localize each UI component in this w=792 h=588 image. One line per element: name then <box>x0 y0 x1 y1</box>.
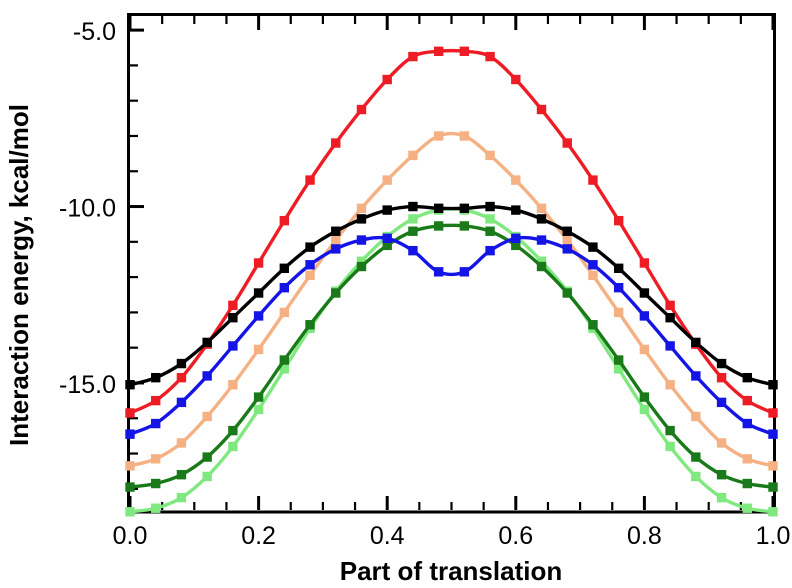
series-tan-curve <box>126 132 777 470</box>
series-red-curve <box>126 47 777 417</box>
series-marker <box>177 398 185 406</box>
series-marker <box>332 236 340 244</box>
series-marker <box>332 227 340 235</box>
series-marker <box>460 222 468 230</box>
series-marker <box>383 176 391 184</box>
series-marker <box>229 442 237 450</box>
series-marker <box>332 245 340 253</box>
series-marker <box>229 301 237 309</box>
series-marker <box>383 206 391 214</box>
series-marker <box>692 472 700 480</box>
series-marker <box>640 312 648 320</box>
series-marker <box>743 504 751 512</box>
series-marker <box>589 261 597 269</box>
series-marker <box>486 246 494 254</box>
series-marker <box>409 246 417 254</box>
series-marker <box>537 262 545 270</box>
series-marker <box>512 75 520 83</box>
series-marker <box>512 234 520 242</box>
series-marker <box>614 284 622 292</box>
series-light-green-curve <box>126 206 777 516</box>
series-marker <box>306 176 314 184</box>
series-marker <box>614 264 622 272</box>
series-marker <box>152 504 160 512</box>
series-marker <box>126 430 134 438</box>
series-marker <box>537 105 545 113</box>
series-marker <box>614 356 622 364</box>
series-marker <box>280 264 288 272</box>
series-marker <box>229 342 237 350</box>
series-marker <box>460 47 468 55</box>
series-marker <box>229 426 237 434</box>
series-marker <box>254 405 262 413</box>
series-marker <box>769 430 777 438</box>
series-marker <box>537 236 545 244</box>
series-black-curve <box>126 202 777 389</box>
series-marker <box>152 396 160 404</box>
y-axis-tick-labels: -5.0-10.0-15.0 <box>59 18 116 399</box>
series-line <box>130 225 773 487</box>
series-marker <box>666 342 674 350</box>
series-line <box>130 51 773 413</box>
series-marker <box>332 289 340 297</box>
series-marker <box>254 312 262 320</box>
series-marker <box>666 313 674 321</box>
series-marker <box>589 243 597 251</box>
series-line <box>130 207 773 385</box>
series-marker <box>332 139 340 147</box>
y-axis-minor-ticks <box>130 65 138 488</box>
data-series-group <box>126 47 777 516</box>
series-marker <box>203 338 211 346</box>
series-marker <box>357 105 365 113</box>
series-marker <box>563 139 571 147</box>
x-tick-label: 0.6 <box>498 522 533 550</box>
series-marker <box>717 493 725 501</box>
series-marker <box>177 439 185 447</box>
series-marker <box>203 412 211 420</box>
x-tick-label: 0.4 <box>370 522 405 550</box>
series-line <box>130 134 773 466</box>
series-marker <box>769 483 777 491</box>
series-marker <box>640 345 648 353</box>
series-marker <box>717 359 725 367</box>
y-tick-label: -10.0 <box>59 195 116 223</box>
series-marker <box>434 132 442 140</box>
series-marker <box>254 345 262 353</box>
series-marker <box>357 215 365 223</box>
series-marker <box>769 409 777 417</box>
series-marker <box>563 236 571 244</box>
series-marker <box>280 284 288 292</box>
series-marker <box>434 222 442 230</box>
series-marker <box>743 396 751 404</box>
series-marker <box>769 381 777 389</box>
series-blue-curve <box>126 234 777 438</box>
series-marker <box>177 471 185 479</box>
series-marker <box>434 268 442 276</box>
series-marker <box>460 204 468 212</box>
series-marker <box>126 483 134 491</box>
series-marker <box>306 261 314 269</box>
series-line <box>130 209 773 512</box>
series-marker <box>152 419 160 427</box>
series-marker <box>589 176 597 184</box>
series-marker <box>614 216 622 224</box>
series-marker <box>769 508 777 516</box>
series-marker <box>409 227 417 235</box>
series-marker <box>152 455 160 463</box>
series-marker <box>666 442 674 450</box>
series-marker <box>177 359 185 367</box>
series-marker <box>306 321 314 329</box>
series-marker <box>254 393 262 401</box>
chart-plot-area: 0.00.20.40.60.81.0 -5.0-10.0-15.0 Part o… <box>0 0 792 588</box>
x-tick-label: 1.0 <box>756 522 791 550</box>
series-marker <box>383 234 391 242</box>
series-marker <box>486 151 494 159</box>
series-marker <box>537 204 545 212</box>
series-marker <box>383 75 391 83</box>
y-axis-title: Interaction energy, kcal/mol <box>4 104 34 446</box>
series-marker <box>203 472 211 480</box>
series-marker <box>409 202 417 210</box>
series-marker <box>512 206 520 214</box>
series-marker <box>229 381 237 389</box>
series-marker <box>177 373 185 381</box>
series-marker <box>717 439 725 447</box>
series-marker <box>203 372 211 380</box>
series-marker <box>537 215 545 223</box>
series-marker <box>717 373 725 381</box>
series-marker <box>203 453 211 461</box>
series-marker <box>409 215 417 223</box>
series-marker <box>486 215 494 223</box>
y-axis-major-ticks <box>130 30 144 383</box>
x-tick-label: 0.8 <box>627 522 662 550</box>
x-tick-label: 0.0 <box>113 522 148 550</box>
x-axis-title: Part of translation <box>340 556 562 586</box>
series-marker <box>409 151 417 159</box>
series-marker <box>177 493 185 501</box>
x-tick-label: 0.2 <box>241 522 276 550</box>
series-marker <box>254 289 262 297</box>
series-marker <box>666 426 674 434</box>
series-marker <box>614 308 622 316</box>
series-marker <box>666 381 674 389</box>
series-marker <box>692 338 700 346</box>
series-marker <box>486 202 494 210</box>
series-marker <box>717 398 725 406</box>
series-marker <box>563 227 571 235</box>
series-marker <box>460 268 468 276</box>
series-marker <box>357 204 365 212</box>
series-marker <box>126 462 134 470</box>
series-marker <box>743 455 751 463</box>
series-marker <box>306 243 314 251</box>
series-marker <box>589 321 597 329</box>
x-axis-minor-ticks <box>162 16 741 510</box>
series-marker <box>769 462 777 470</box>
series-marker <box>640 405 648 413</box>
series-marker <box>460 132 468 140</box>
y-tick-label: -15.0 <box>59 371 116 399</box>
series-marker <box>126 409 134 417</box>
series-marker <box>717 471 725 479</box>
series-marker <box>692 372 700 380</box>
chart-figure: 0.00.20.40.60.81.0 -5.0-10.0-15.0 Part o… <box>0 0 792 588</box>
y-tick-label: -5.0 <box>73 18 116 46</box>
series-marker <box>152 373 160 381</box>
series-marker <box>640 393 648 401</box>
series-marker <box>743 479 751 487</box>
series-marker <box>743 373 751 381</box>
series-marker <box>280 356 288 364</box>
series-marker <box>409 52 417 60</box>
series-marker <box>640 289 648 297</box>
series-marker <box>280 308 288 316</box>
series-marker <box>692 453 700 461</box>
series-marker <box>743 419 751 427</box>
series-marker <box>563 289 571 297</box>
series-marker <box>692 412 700 420</box>
series-marker <box>357 236 365 244</box>
series-marker <box>666 301 674 309</box>
series-marker <box>254 259 262 267</box>
series-line <box>130 238 773 435</box>
series-marker <box>306 271 314 279</box>
series-marker <box>126 508 134 516</box>
series-marker <box>434 47 442 55</box>
x-axis-tick-labels: 0.00.20.40.60.81.0 <box>113 522 791 550</box>
series-marker <box>640 259 648 267</box>
series-marker <box>357 262 365 270</box>
series-marker <box>512 176 520 184</box>
series-marker <box>589 271 597 279</box>
series-marker <box>486 52 494 60</box>
series-marker <box>229 313 237 321</box>
series-marker <box>486 227 494 235</box>
series-marker <box>434 204 442 212</box>
series-marker <box>280 216 288 224</box>
series-marker <box>152 479 160 487</box>
series-marker <box>126 381 134 389</box>
series-marker <box>563 245 571 253</box>
